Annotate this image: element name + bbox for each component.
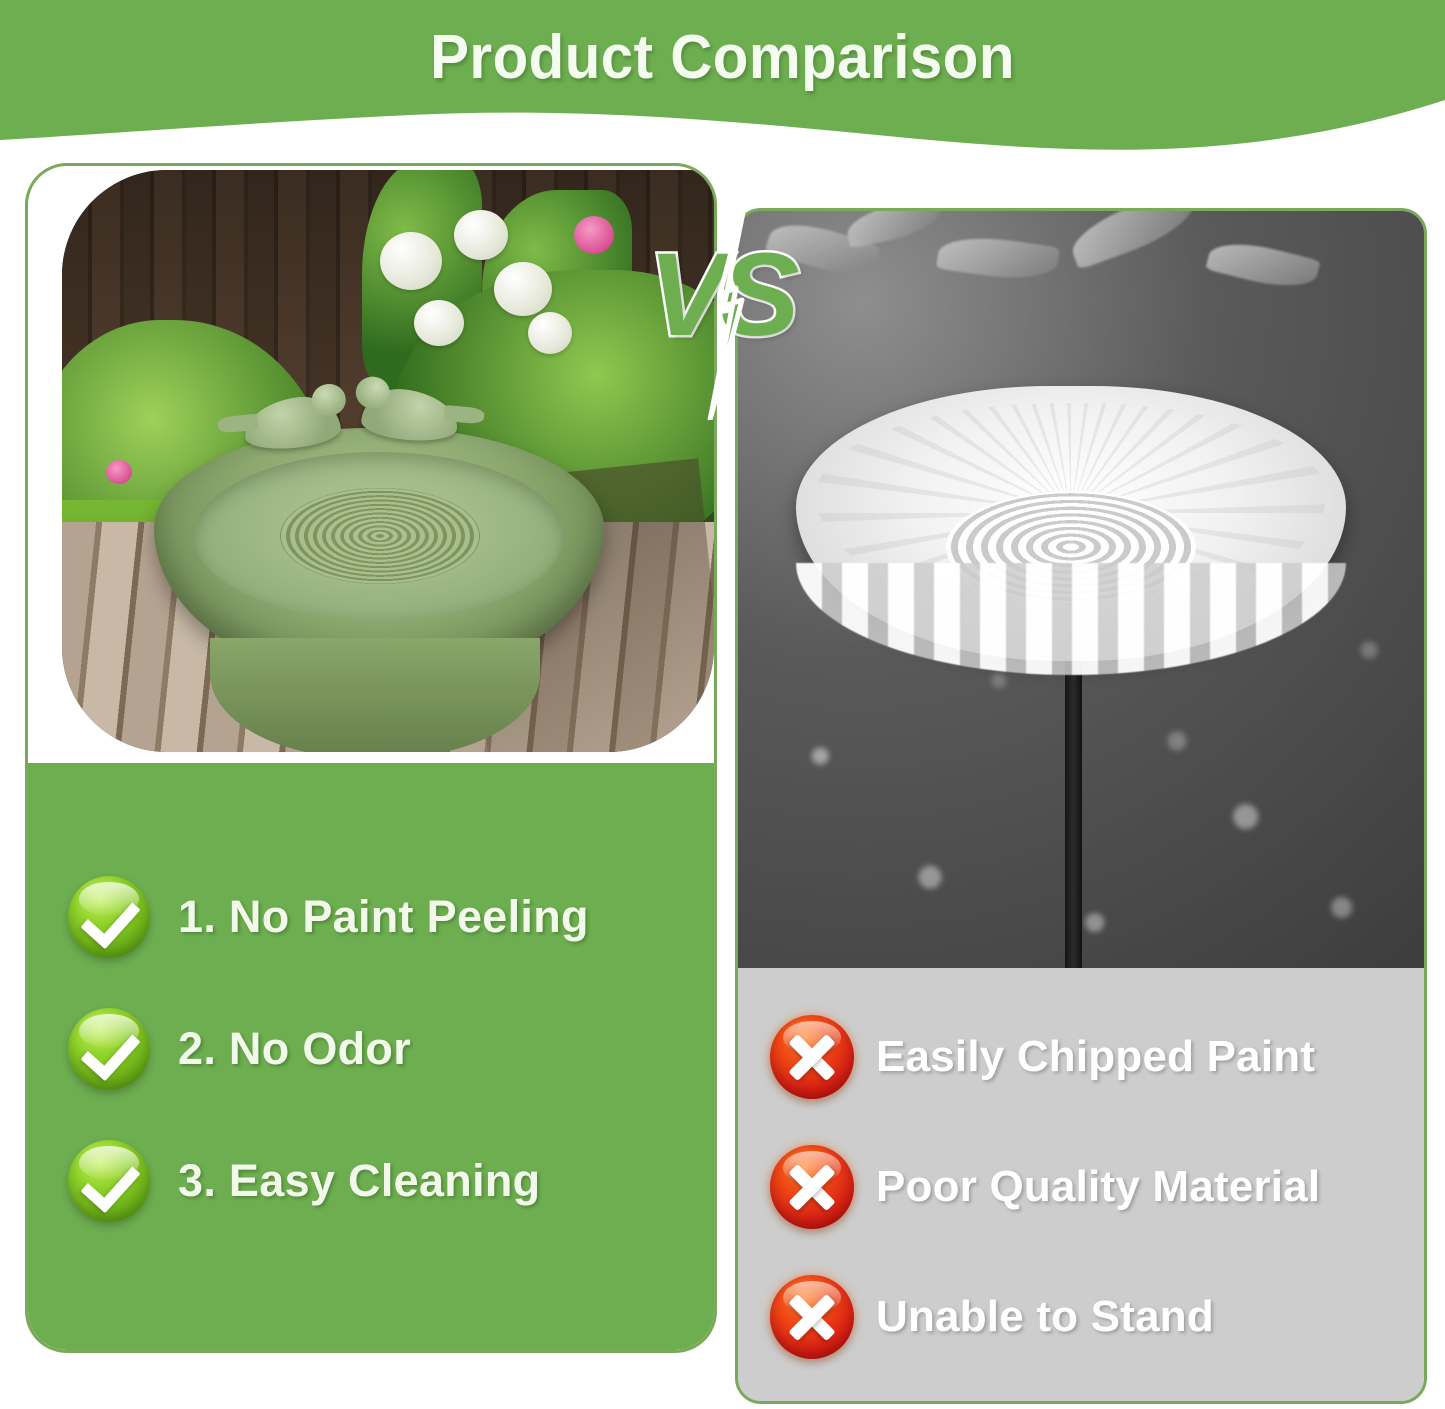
metal-stake <box>1065 651 1082 968</box>
list-item: 1. No Paint Peeling <box>68 851 690 983</box>
list-item: Poor Quality Material <box>770 1122 1410 1252</box>
x-mark <box>770 1275 854 1359</box>
list-item: 3. Easy Cleaning <box>68 1115 690 1247</box>
page-title: Product Comparison <box>43 22 1401 93</box>
pro-label: 3. Easy Cleaning <box>178 1155 540 1207</box>
product-comparison-infographic: Product Comparison <box>0 0 1445 1409</box>
versus-badge: VS <box>648 236 818 376</box>
peony-flower <box>528 312 572 354</box>
list-item: 2. No Odor <box>68 983 690 1115</box>
pros-block: 1. No Paint Peeling 2. No Odor 3. Easy C… <box>28 763 714 1350</box>
x-mark <box>770 1015 854 1099</box>
x-circle-icon <box>770 1145 854 1229</box>
bad-product-panel: Easily Chipped Paint Poor Quality Materi… <box>735 208 1427 1404</box>
pink-flower <box>574 216 614 254</box>
con-label: Unable to Stand <box>876 1292 1214 1342</box>
bad-product-photo <box>738 211 1424 968</box>
x-circle-icon <box>770 1275 854 1359</box>
birdbath-base <box>210 638 540 752</box>
lightning-bolt-icon <box>702 188 762 420</box>
peony-flower <box>454 210 508 260</box>
pros-list: 1. No Paint Peeling 2. No Odor 3. Easy C… <box>68 851 690 1247</box>
check-circle-icon <box>68 876 150 958</box>
con-label: Poor Quality Material <box>876 1162 1320 1212</box>
list-item: Easily Chipped Paint <box>770 992 1410 1122</box>
peony-flower <box>380 232 442 290</box>
cons-list: Easily Chipped Paint Poor Quality Materi… <box>770 992 1410 1382</box>
con-label: Easily Chipped Paint <box>876 1032 1315 1082</box>
pink-flower <box>106 460 132 484</box>
peony-flower <box>414 300 464 346</box>
pro-label: 2. No Odor <box>178 1023 411 1075</box>
check-circle-icon <box>68 1008 150 1090</box>
x-circle-icon <box>770 1015 854 1099</box>
x-mark <box>770 1145 854 1229</box>
list-item: Unable to Stand <box>770 1252 1410 1382</box>
birdbath-floral-medallion <box>280 488 480 584</box>
check-circle-icon <box>68 1140 150 1222</box>
cons-block: Easily Chipped Paint Poor Quality Materi… <box>738 968 1424 1401</box>
pro-label: 1. No Paint Peeling <box>178 891 589 943</box>
header-banner: Product Comparison <box>0 0 1445 170</box>
peony-flower <box>494 262 552 316</box>
good-product-photo <box>62 170 714 752</box>
good-product-panel: 1. No Paint Peeling 2. No Odor 3. Easy C… <box>25 163 717 1353</box>
